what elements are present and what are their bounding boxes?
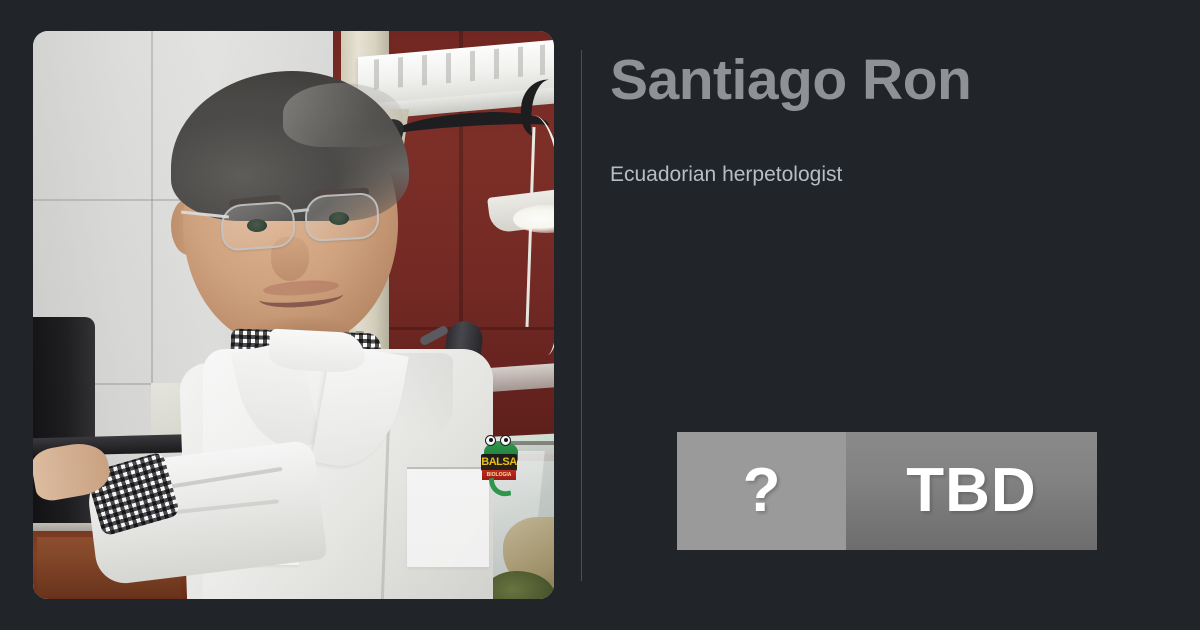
- eyeglasses-lens: [304, 192, 380, 242]
- vertical-divider: [581, 50, 582, 581]
- tile-grout-line: [151, 31, 153, 383]
- placeholder-logo[interactable]: ? TBD: [677, 432, 1097, 550]
- dark-appliance: [33, 317, 95, 531]
- hair-highlight: [283, 83, 403, 147]
- eyeglasses-lens: [219, 200, 296, 251]
- tbd-text: TBD: [906, 460, 1036, 522]
- frog-leg: [489, 476, 512, 499]
- balsa-frog-patch: BALSA BIOLOGIA: [478, 433, 520, 497]
- frog-pupil: [489, 438, 493, 442]
- profile-photo[interactable]: BALSA BIOLOGIA: [33, 31, 554, 599]
- page-title: Santiago Ron: [610, 47, 971, 113]
- frog-pupil: [504, 438, 508, 442]
- patch-text: BALSA: [481, 454, 517, 471]
- tbd-label-panel: TBD: [846, 432, 1097, 550]
- photo-scene: BALSA BIOLOGIA: [33, 31, 554, 599]
- question-mark-panel: ?: [677, 432, 846, 550]
- page-root: BALSA BIOLOGIA Santiago Ron Ecuadorian h…: [0, 0, 1200, 630]
- page-subtitle: Ecuadorian herpetologist: [610, 163, 842, 187]
- coat-pocket: [407, 467, 489, 567]
- patch-sign: BALSA: [481, 454, 517, 471]
- question-mark-icon: ?: [743, 460, 781, 522]
- coat-collar: [268, 329, 366, 374]
